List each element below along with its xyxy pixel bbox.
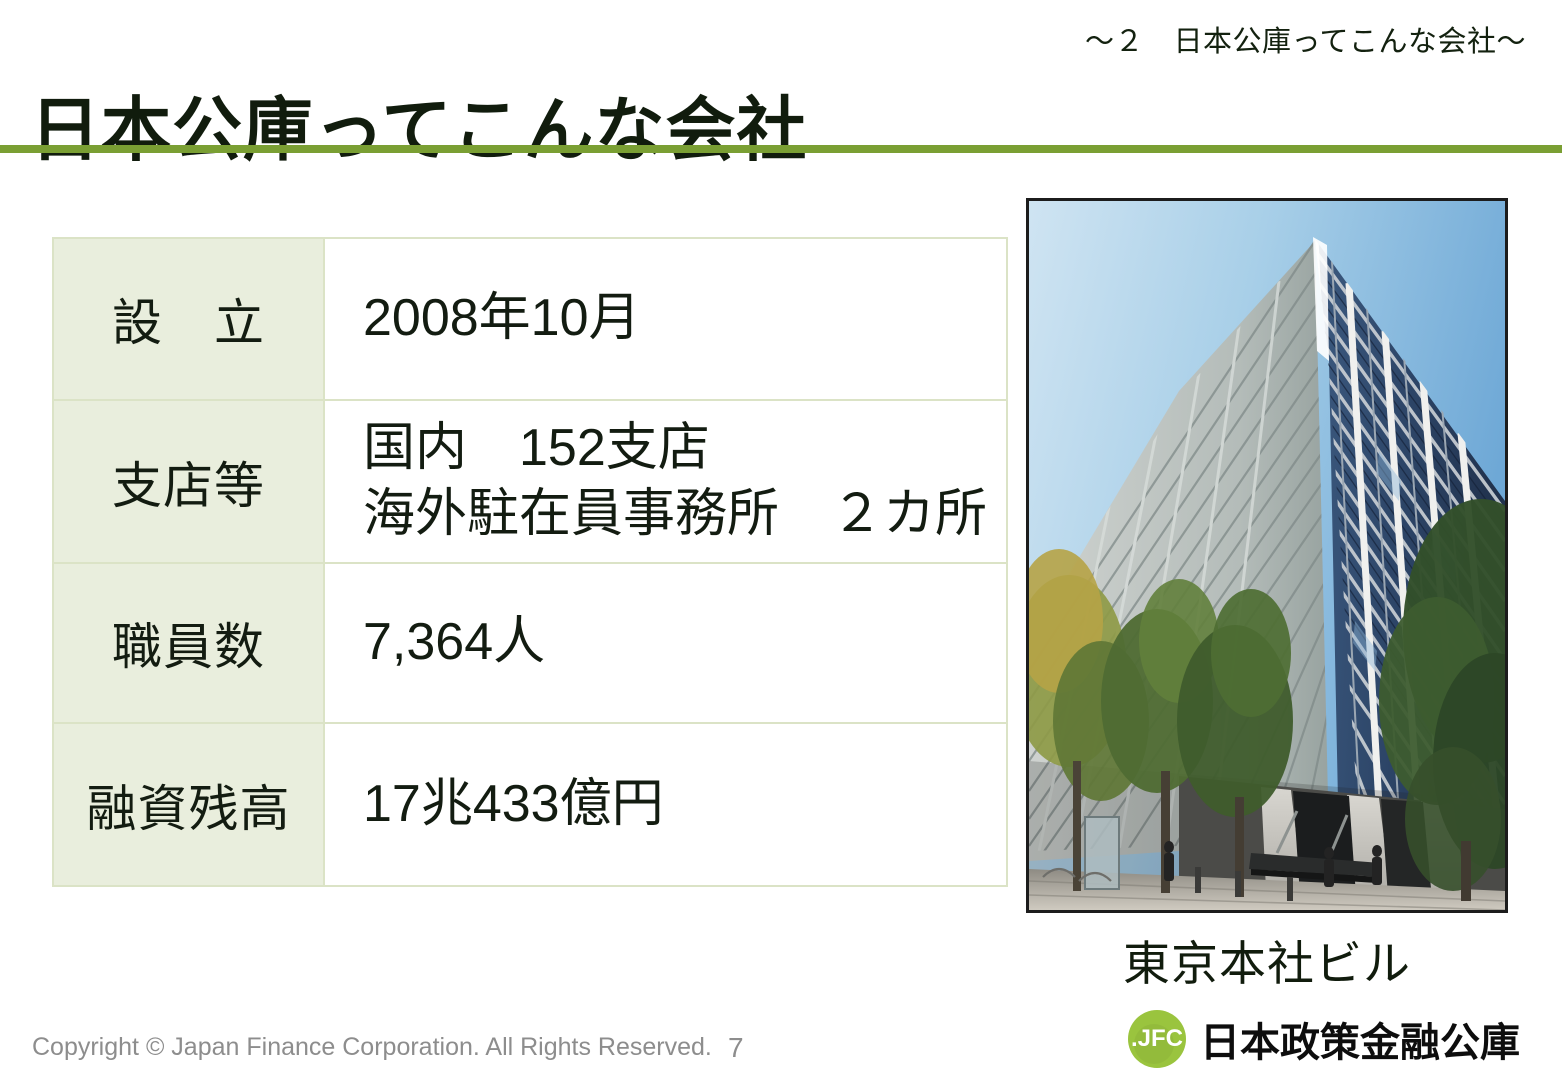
table-row-value-line: 17兆433億円 [363,773,1006,836]
page-title: 日本公庫ってこんな会社 [30,95,808,165]
table-row-value-line: 国内 152支店 [363,417,1006,480]
photo-image [1029,201,1505,910]
jfc-mark-icon: .JFC [1128,1010,1186,1068]
headquarters-photo [1026,198,1508,913]
table-row: 支店等 国内 152支店 海外駐在員事務所 ２カ所 [54,401,1006,564]
table-row-label: 融資残高 [54,724,325,885]
table-row-value: 17兆433億円 [325,724,1006,885]
table-row: 融資残高 17兆433億円 [54,724,1006,885]
copyright-text: Copyright © Japan Finance Corporation. A… [32,1033,712,1062]
page-number: 7 [728,1032,744,1064]
photo-caption: 東京本社ビル [1026,925,1508,994]
table-row-value-line: 2008年10月 [363,287,1006,350]
table-row: 設 立 2008年10月 [54,239,1006,401]
jfc-mark-label: .JFC [1131,1025,1183,1053]
table-row-label: 職員数 [54,564,325,722]
table-row-label: 支店等 [54,401,325,562]
table-row-value-line: 海外駐在員事務所 ２カ所 [363,483,1006,546]
company-info-table: 設 立 2008年10月 支店等 国内 152支店 海外駐在員事務所 ２カ所 職… [52,237,1008,887]
table-row-label: 設 立 [54,239,325,399]
table-row-value: 2008年10月 [325,239,1006,399]
table-row: 職員数 7,364人 [54,564,1006,724]
jfc-logo: .JFC 日本政策金融公庫 [1128,1010,1520,1068]
jfc-logo-name: 日本政策金融公庫 [1200,1010,1520,1068]
building-illustration [1029,201,1505,910]
table-row-value: 7,364人 [325,564,1006,722]
slide: ～２ 日本公庫ってこんな会社～ 日本公庫ってこんな会社 設 立 2008年10月… [0,0,1562,1086]
table-row-value: 国内 152支店 海外駐在員事務所 ２カ所 [325,401,1006,562]
table-row-value-line: 7,364人 [363,611,1006,674]
section-label: ～２ 日本公庫ってこんな会社～ [1085,18,1526,60]
title-underline-rule [0,145,1562,153]
